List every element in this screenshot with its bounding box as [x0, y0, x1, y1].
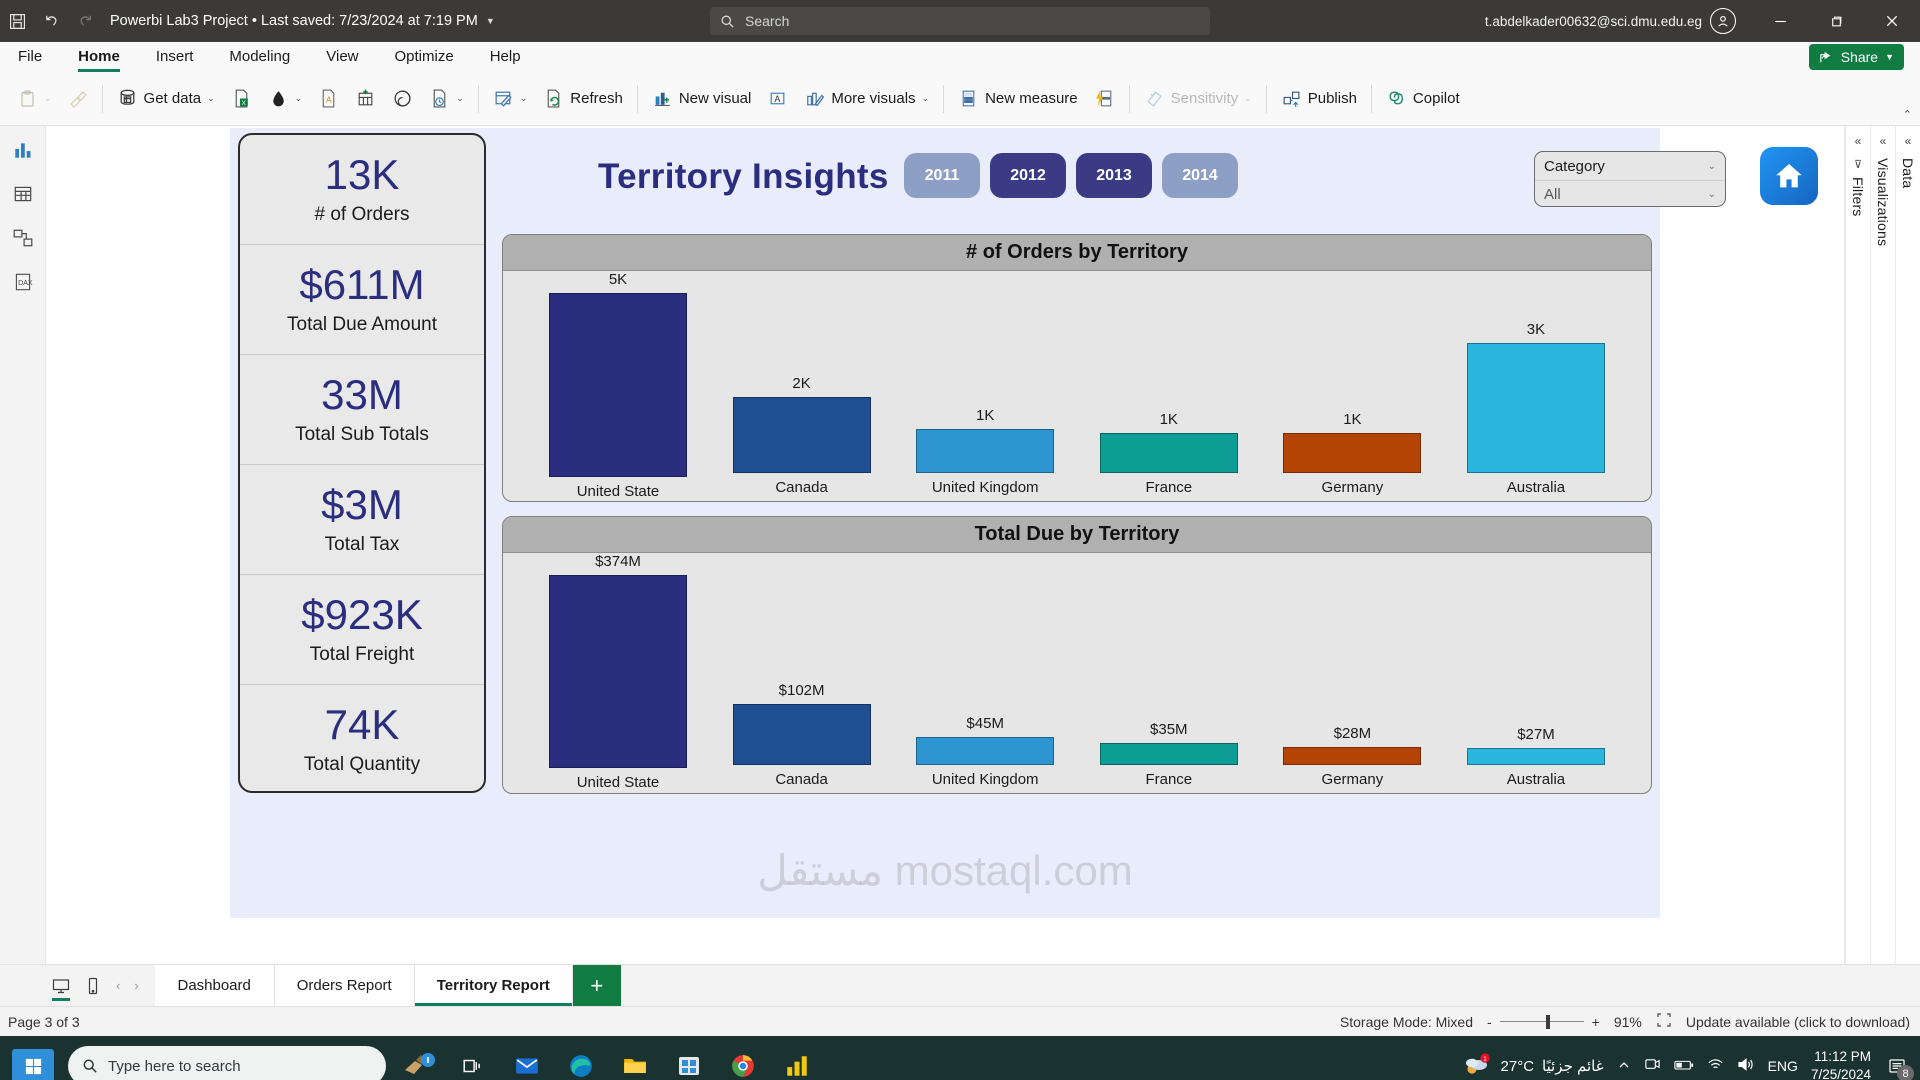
transform-data-button[interactable]: ⌄ [485, 78, 536, 120]
bar[interactable] [733, 704, 871, 765]
refresh-label: Refresh [570, 90, 623, 107]
layout-view-group: ‹ › [0, 965, 155, 1006]
zoom-level-label: 91% [1614, 1014, 1642, 1030]
microsoft-store-icon[interactable] [670, 1047, 708, 1080]
bar-category-label: Australia [1507, 771, 1565, 793]
bar[interactable] [1467, 748, 1605, 765]
bar-group[interactable]: 1K United Kingdom [916, 271, 1054, 501]
chevron-up-icon[interactable] [1617, 1058, 1631, 1075]
bar-data-label: $374M [595, 553, 641, 570]
bar[interactable] [916, 429, 1054, 473]
weather-widget[interactable]: 1 27°C غائم جزئيًا [1463, 1053, 1604, 1079]
bar-category-label: Australia [1507, 479, 1565, 501]
copilot-button[interactable]: Copilot [1378, 78, 1468, 120]
bar-group[interactable]: 5K United State [549, 271, 687, 501]
report-header-banner: Territory Insights 2011 2012 2013 2014 C… [502, 133, 1652, 225]
more-visuals-label: More visuals [831, 90, 915, 107]
ribbon-separator [637, 85, 638, 113]
title-bar: Powerbi Lab3 Project • Last saved: 7/23/… [0, 0, 1920, 42]
dax-query-view-icon[interactable]: DAX [9, 268, 37, 296]
category-slicer[interactable]: Category ⌄ All ⌄ [1534, 151, 1726, 207]
wifi-icon[interactable] [1707, 1057, 1724, 1075]
bar[interactable] [1100, 433, 1238, 473]
new-visual-label: New visual [679, 90, 752, 107]
visualizations-pane-label: Visualizations [1875, 158, 1891, 246]
storage-mode-label: Storage Mode: Mixed [1340, 1014, 1473, 1030]
bar[interactable] [1467, 343, 1605, 473]
chart-plot-area: $374M United State $102M Canada $45M Uni… [503, 553, 1651, 793]
power-bi-icon[interactable] [778, 1047, 816, 1080]
kpi-label: # of Orders [314, 204, 409, 226]
year-button-2011[interactable]: 2011 [904, 153, 980, 198]
bar-category-label: Germany [1322, 479, 1384, 501]
teams-icon[interactable] [1644, 1056, 1661, 1076]
kpi-total-sub-totals[interactable]: 33M Total Sub Totals [240, 355, 484, 465]
bar[interactable] [1283, 433, 1421, 473]
bar[interactable] [1100, 743, 1238, 765]
fit-to-page-icon[interactable] [1656, 1012, 1672, 1031]
bar[interactable] [733, 397, 871, 473]
share-label: Share [1841, 49, 1878, 65]
get-data-button[interactable]: Get data ⌄ [109, 78, 223, 120]
page-tab-bar: ‹ › Dashboard Orders Report Territory Re… [0, 964, 1920, 1006]
kpi-value: 13K [325, 154, 400, 196]
kpi-card-strip: 13K # of Orders $611M Total Due Amount 3… [238, 133, 486, 793]
windows-taskbar: Type here to search [0, 1036, 1920, 1080]
main-body: DAX 13K # of Orders $611M Total Due Amou… [0, 126, 1920, 964]
bar-group[interactable]: 1K Germany [1283, 271, 1421, 501]
notification-center-icon[interactable]: 8 [1884, 1053, 1910, 1079]
mail-icon[interactable] [508, 1047, 546, 1080]
language-indicator[interactable]: ENG [1768, 1058, 1798, 1074]
bar-group[interactable]: $27M Australia [1467, 553, 1605, 793]
year-label: 2012 [1010, 167, 1046, 185]
filter-icon: ⊽ [1854, 158, 1862, 171]
desktop-layout-icon[interactable] [48, 973, 74, 999]
kpi-total-freight[interactable]: $923K Total Freight [240, 575, 484, 685]
chart-plot-area: 5K United State 2K Canada 1K United King… [503, 271, 1651, 501]
visualizations-pane-collapsed[interactable]: « Visualizations [1870, 126, 1895, 964]
zoom-in-button[interactable]: + [1592, 1014, 1600, 1030]
bar[interactable] [1283, 747, 1421, 765]
kpi-value: $3M [321, 484, 403, 526]
chevron-double-left-icon[interactable]: « [1855, 134, 1862, 148]
ribbon-separator [943, 85, 944, 113]
kpi-label: Total Tax [325, 534, 400, 556]
chart-panel-total-due-by-territory[interactable]: Total Due by Territory $374M United Stat… [502, 516, 1652, 794]
menu-view[interactable]: View [308, 45, 376, 72]
data-pane-label: Data [1900, 158, 1916, 188]
chevron-down-icon[interactable]: ⌄ [1708, 161, 1716, 172]
table-view-icon[interactable] [9, 180, 37, 208]
year-label: 2013 [1096, 167, 1132, 185]
svg-text:A: A [326, 95, 332, 105]
undo-icon[interactable] [34, 6, 68, 36]
battery-icon[interactable] [1674, 1058, 1694, 1075]
titlebar-right-group: t.abdelkader00632@sci.dmu.edu.eg [1485, 0, 1920, 42]
page-tab-dashboard[interactable]: Dashboard [155, 965, 275, 1006]
kpi-total-due-amount[interactable]: $611M Total Due Amount [240, 245, 484, 355]
page-title: Territory Insights [598, 157, 889, 197]
chevron-double-left-icon[interactable]: « [1880, 134, 1887, 148]
bar[interactable] [916, 737, 1054, 765]
restore-button[interactable] [1808, 0, 1864, 42]
chrome-icon[interactable] [724, 1047, 762, 1080]
bar[interactable] [549, 293, 687, 477]
chart-title: Total Due by Territory [503, 517, 1651, 553]
volume-icon[interactable] [1737, 1057, 1755, 1075]
report-canvas-area: 13K # of Orders $611M Total Due Amount 3… [46, 126, 1844, 964]
data-pane-collapsed[interactable]: « Data [1895, 126, 1920, 964]
bar-data-label: 2K [792, 375, 810, 392]
kpi-total-tax[interactable]: $3M Total Tax [240, 465, 484, 575]
bar-category-label: United Kingdom [932, 479, 1039, 501]
kpi-label: Total Sub Totals [295, 424, 429, 446]
bar-category-label: Canada [775, 479, 828, 501]
bar[interactable] [549, 575, 687, 768]
bar-group[interactable]: $45M United Kingdom [916, 553, 1054, 793]
svg-text:X: X [241, 100, 246, 107]
year-label: 2014 [1182, 167, 1218, 185]
zoom-slider-track[interactable] [1500, 1021, 1584, 1023]
kpi-orders[interactable]: 13K # of Orders [240, 135, 484, 245]
menu-home[interactable]: Home [60, 45, 138, 72]
kpi-value: 33M [321, 374, 403, 416]
menu-help[interactable]: Help [472, 45, 539, 72]
year-button-2013[interactable]: 2013 [1076, 153, 1152, 198]
ribbon-separator [102, 85, 103, 113]
bar-data-label: 1K [976, 407, 994, 424]
share-button[interactable]: Share ▼ [1809, 44, 1904, 70]
sensitivity-label: Sensitivity [1171, 90, 1239, 107]
taskbar-search-placeholder: Type here to search [108, 1058, 241, 1075]
refresh-button[interactable]: Refresh [535, 78, 631, 120]
bar-group[interactable]: $35M France [1100, 553, 1238, 793]
kpi-label: Total Quantity [304, 754, 420, 776]
taskbar-app-group [400, 1047, 816, 1080]
account-email: t.abdelkader00632@sci.dmu.edu.eg [1485, 14, 1702, 29]
minimize-button[interactable] [1752, 0, 1808, 42]
avatar[interactable] [1710, 8, 1736, 34]
status-bar-right-group: Storage Mode: Mixed - + 91% Update avail… [1340, 1012, 1910, 1031]
kpi-label: Total Freight [310, 644, 415, 666]
chevron-down-icon[interactable]: ⌄ [1708, 189, 1716, 200]
publish-button[interactable]: Publish [1273, 78, 1365, 120]
cortana-icon[interactable] [400, 1047, 438, 1080]
page-indicator: Page 3 of 3 [0, 1014, 80, 1030]
ribbon-separator [1371, 85, 1372, 113]
bar-group[interactable]: 2K Canada [733, 271, 871, 501]
kpi-total-quantity[interactable]: 74K Total Quantity [240, 685, 484, 793]
bar-group[interactable]: $374M United State [549, 553, 687, 793]
model-view-icon[interactable] [9, 224, 37, 252]
redo-icon [68, 6, 102, 36]
bar-category-label: France [1145, 479, 1192, 501]
save-icon[interactable] [0, 6, 34, 36]
clock-date: 7/25/2024 [1811, 1066, 1871, 1080]
taskbar-search-input[interactable]: Type here to search [68, 1046, 386, 1080]
publish-label: Publish [1308, 90, 1357, 107]
onelake-data-hub-button[interactable]: ⌄ [260, 78, 311, 120]
close-button[interactable] [1864, 0, 1920, 42]
bar-data-label: 1K [1343, 411, 1361, 428]
excel-workbook-button[interactable]: X [223, 78, 260, 120]
document-title: Powerbi Lab3 Project • Last saved: 7/23/… [110, 13, 478, 29]
bar-data-label: $45M [966, 715, 1004, 732]
bar-group[interactable]: $102M Canada [733, 553, 871, 793]
kpi-value: $611M [299, 264, 424, 306]
category-slicer-header[interactable]: Category ⌄ [1535, 152, 1725, 180]
task-view-icon[interactable] [454, 1047, 492, 1080]
bar-group[interactable]: 1K France [1100, 271, 1238, 501]
bar-category-label: United State [577, 774, 660, 793]
system-tray: 1 27°C غائم جزئيًا [1463, 1036, 1920, 1080]
weather-description: غائم جزئيًا [1542, 1057, 1604, 1075]
title-dropdown-caret[interactable]: ▼ [486, 16, 495, 26]
svg-text:DAX: DAX [18, 280, 33, 287]
sql-server-button[interactable]: A [310, 78, 347, 120]
new-measure-label: New measure [985, 90, 1078, 107]
get-data-label: Get data [144, 90, 202, 107]
bar-group[interactable]: 3K Australia [1467, 271, 1605, 501]
update-available-link[interactable]: Update available (click to download) [1686, 1014, 1910, 1030]
year-button-2012[interactable]: 2012 [990, 153, 1066, 198]
clock[interactable]: 11:12 PM 7/25/2024 [1811, 1048, 1871, 1080]
menu-modeling[interactable]: Modeling [211, 45, 308, 72]
weather-temperature: 27°C [1501, 1058, 1535, 1075]
zoom-slider[interactable]: - + [1487, 1014, 1600, 1030]
page-tab-orders-report[interactable]: Orders Report [275, 965, 415, 1006]
bar-data-label: 5K [609, 271, 627, 288]
bar-category-label: Canada [775, 771, 828, 793]
bar-category-label: Germany [1322, 771, 1384, 793]
year-label: 2011 [925, 167, 960, 185]
svg-text:1: 1 [1483, 1056, 1487, 1063]
ribbon-separator [1266, 85, 1267, 113]
search-input[interactable]: Search [710, 7, 1210, 35]
year-button-2014[interactable]: 2014 [1162, 153, 1238, 198]
text-box-button[interactable]: A [759, 78, 796, 120]
filters-pane-collapsed[interactable]: « ⊽ Filters [1845, 126, 1870, 964]
new-visual-button[interactable]: New visual [644, 78, 760, 120]
bar-data-label: $102M [779, 682, 825, 699]
new-measure-button[interactable]: New measure [950, 78, 1086, 120]
report-canvas[interactable]: 13K # of Orders $611M Total Due Amount 3… [230, 128, 1660, 918]
file-explorer-icon[interactable] [616, 1047, 654, 1080]
zoom-out-button[interactable]: - [1487, 1014, 1492, 1030]
more-visuals-button[interactable]: More visuals ⌄ [796, 78, 937, 120]
home-icon [1772, 159, 1806, 193]
menu-insert[interactable]: Insert [138, 45, 212, 72]
category-slicer-value-row[interactable]: All ⌄ [1535, 180, 1725, 208]
ribbon-separator [1129, 85, 1130, 113]
bar-group[interactable]: $28M Germany [1283, 553, 1421, 793]
search-placeholder-text: Search [745, 13, 789, 29]
add-page-button[interactable]: + [573, 965, 621, 1006]
ribbon-separator [478, 85, 479, 113]
view-rail: DAX [0, 126, 46, 964]
dataverse-button[interactable] [384, 78, 421, 120]
paste-button[interactable]: ⌄ [10, 78, 60, 120]
enter-data-button[interactable] [347, 78, 384, 120]
home-button[interactable] [1760, 147, 1818, 205]
bar-category-label: United Kingdom [932, 771, 1039, 793]
category-slicer-label: Category [1544, 158, 1605, 175]
filters-pane-label: Filters [1850, 177, 1866, 217]
bar-category-label: United State [577, 483, 660, 501]
bar-data-label: $27M [1517, 726, 1555, 743]
status-bar: Page 3 of 3 Storage Mode: Mixed - + 91% … [0, 1006, 1920, 1036]
zoom-slider-knob[interactable] [1546, 1015, 1550, 1029]
next-page-icon[interactable]: › [130, 978, 142, 993]
ribbon-toolbar: ⌄ Get data ⌄ X ⌄ A [0, 72, 1920, 126]
watermark: مستقل mostaql.com [757, 846, 1132, 895]
chevron-double-left-icon[interactable]: « [1905, 134, 1912, 148]
bar-data-label: $28M [1334, 725, 1372, 742]
menu-file[interactable]: File [0, 45, 60, 72]
recent-sources-button[interactable]: ⌄ [421, 78, 472, 120]
copilot-label: Copilot [1413, 90, 1460, 107]
edge-icon[interactable] [562, 1047, 600, 1080]
windows-start-icon[interactable] [12, 1049, 54, 1080]
kpi-value: $923K [301, 594, 422, 636]
bar-data-label: 1K [1160, 411, 1178, 428]
bar-data-label: $35M [1150, 721, 1188, 738]
prev-page-icon[interactable]: ‹ [112, 978, 124, 993]
sensitivity-button[interactable]: Sensitivity ⌄ [1136, 78, 1260, 120]
report-view-icon[interactable] [9, 136, 37, 164]
svg-text:A: A [775, 94, 781, 104]
chart-panel-orders-by-territory[interactable]: # of Orders by Territory 5K United State… [502, 234, 1652, 502]
category-slicer-value: All [1544, 186, 1561, 203]
chart-title: # of Orders by Territory [503, 235, 1651, 271]
kpi-value: 74K [325, 704, 400, 746]
bar-category-label: France [1145, 771, 1192, 793]
menu-bar: File Home Insert Modeling View Optimize … [0, 42, 1920, 72]
clock-time: 11:12 PM [1814, 1048, 1871, 1066]
kpi-label: Total Due Amount [287, 314, 437, 336]
page-tab-territory-report[interactable]: Territory Report [415, 965, 573, 1006]
quick-measure-button[interactable] [1086, 78, 1123, 120]
mobile-layout-icon[interactable] [80, 973, 106, 999]
bar-data-label: 3K [1527, 321, 1545, 338]
notification-count: 8 [1897, 1065, 1914, 1080]
format-painter-button[interactable] [60, 78, 96, 120]
menu-optimize[interactable]: Optimize [377, 45, 472, 72]
collapse-ribbon-icon[interactable]: ⌃ [1903, 108, 1912, 121]
pane-rail: « ⊽ Filters « Visualizations « Data [1844, 126, 1920, 964]
